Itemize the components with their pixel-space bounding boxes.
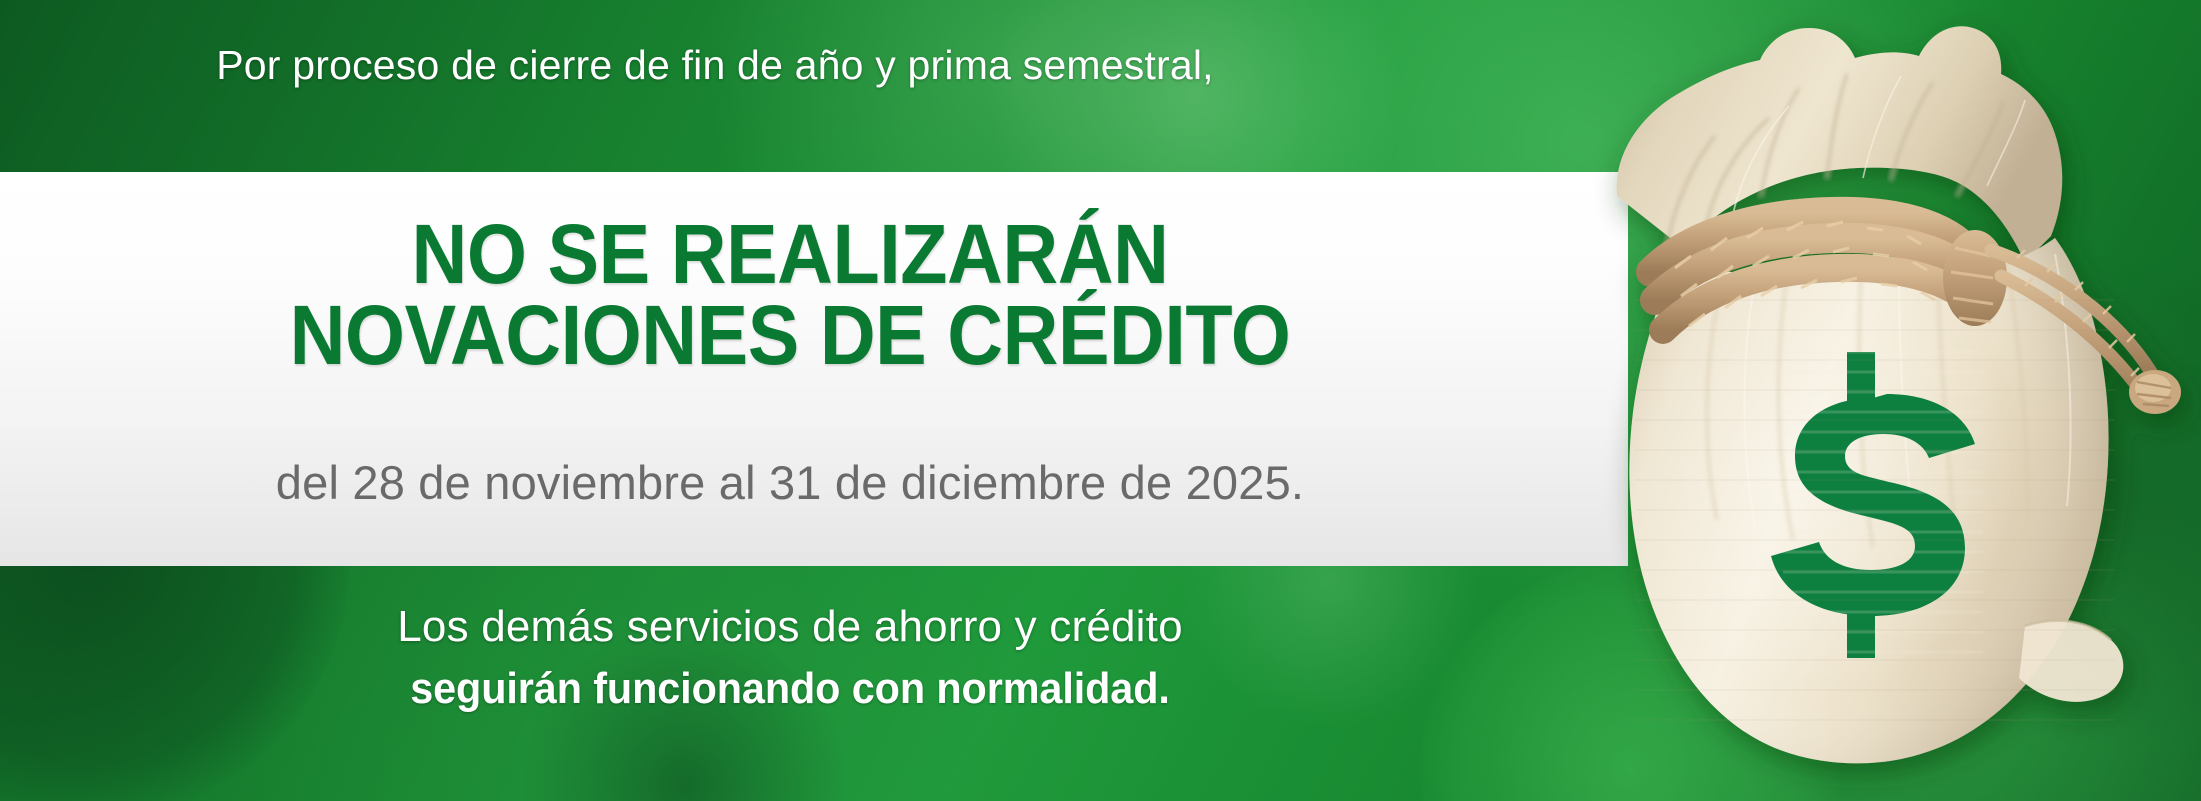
intro-text: Por proceso de cierre de fin de año y pr… bbox=[0, 42, 1430, 89]
headline-line-1: NO SE REALIZARÁN bbox=[63, 214, 1517, 295]
money-bag-icon bbox=[1555, 0, 2201, 801]
footer-line-2: seguirán funcionando con normalidad. bbox=[47, 664, 1532, 714]
footer-text: Los demás servicios de ahorro y crédito … bbox=[0, 602, 1580, 714]
headline-line-2: NOVACIONES DE CRÉDITO bbox=[63, 295, 1517, 376]
footer-line-1: Los demás servicios de ahorro y crédito bbox=[0, 602, 1580, 652]
headline: NO SE REALIZARÁN NOVACIONES DE CRÉDITO bbox=[63, 214, 1517, 377]
date-range-text: del 28 de noviembre al 31 de diciembre d… bbox=[0, 455, 1580, 510]
promotional-banner: Por proceso de cierre de fin de año y pr… bbox=[0, 0, 2201, 801]
